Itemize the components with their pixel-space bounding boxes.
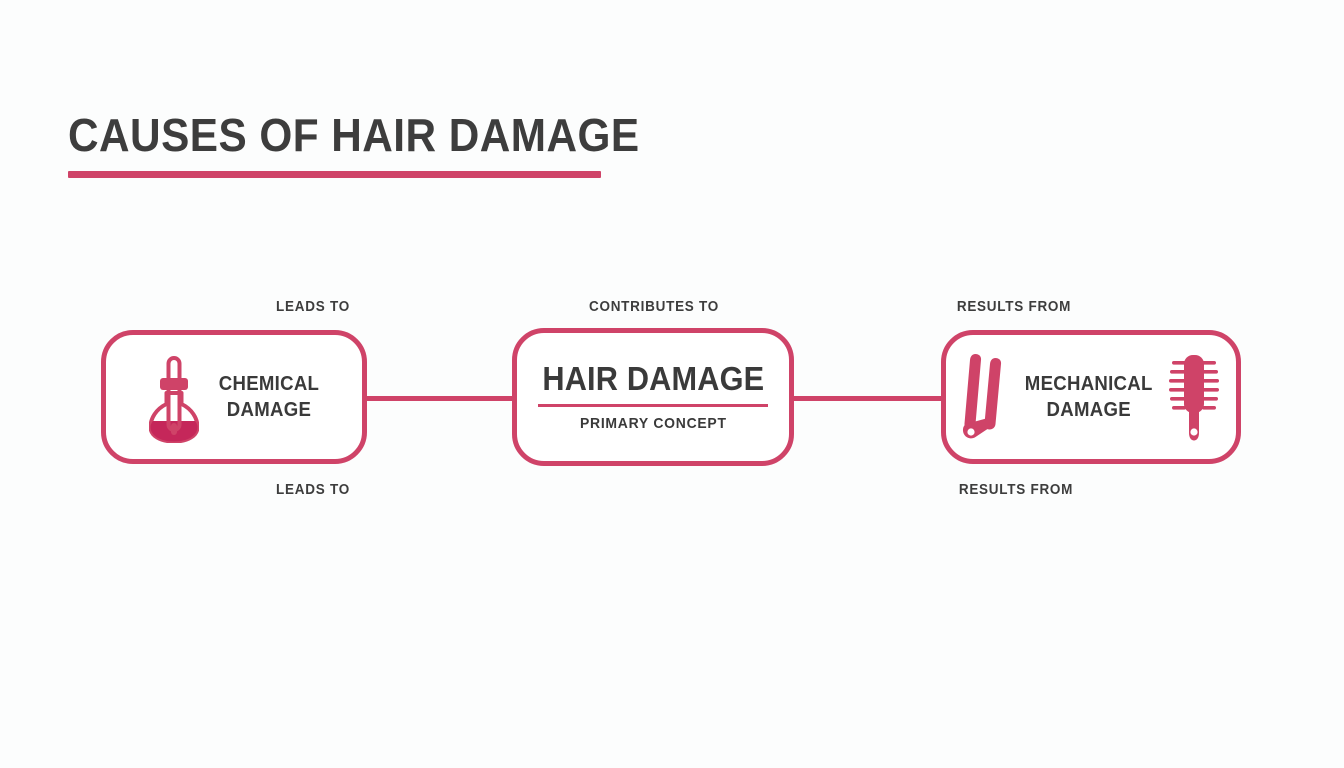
flask-dropper-icon <box>149 351 199 443</box>
edge-label-center-top: CONTRIBUTES TO <box>583 299 724 315</box>
edge-label-left-top: LEADS TO <box>243 299 383 315</box>
node-chemical-damage-label: CHEMICAL DAMAGE <box>219 371 319 424</box>
hair-brush-icon <box>1168 351 1220 443</box>
concept-diagram: LEADS TO LEADS TO CONTRIBUTES TO RESULTS… <box>0 0 1344 768</box>
connector-chemical-to-primary <box>366 396 516 401</box>
edge-label-left-bottom: LEADS TO <box>243 482 383 498</box>
node-hair-damage-rule <box>538 404 768 407</box>
connector-primary-to-mechanical <box>792 396 944 401</box>
node-mechanical-damage[interactable]: MECHANICAL DAMAGE <box>941 330 1241 464</box>
node-hair-damage[interactable]: HAIR DAMAGE PRIMARY CONCEPT <box>512 328 794 466</box>
flat-iron-icon <box>962 352 1010 442</box>
node-mechanical-damage-label: MECHANICAL DAMAGE <box>1025 371 1153 424</box>
edge-label-right-top: RESULTS FROM <box>943 299 1084 315</box>
node-hair-damage-subtitle: PRIMARY CONCEPT <box>542 415 764 432</box>
node-chemical-damage[interactable]: CHEMICAL DAMAGE <box>101 330 367 464</box>
edge-label-right-bottom: RESULTS FROM <box>945 482 1086 498</box>
node-hair-damage-label: HAIR DAMAGE <box>542 362 764 395</box>
